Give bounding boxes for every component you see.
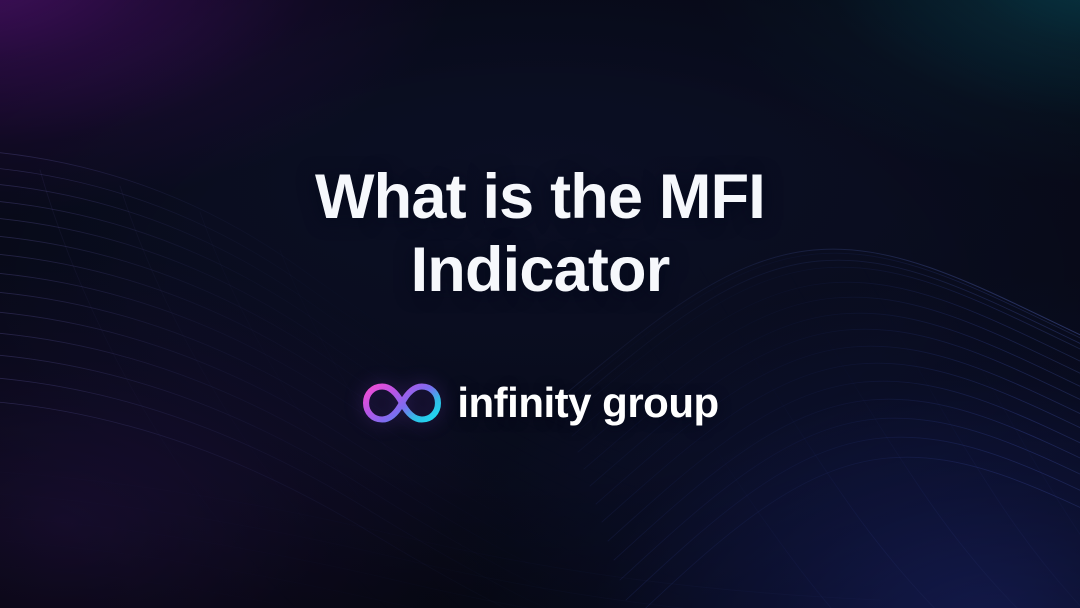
- page-title: What is the MFI Indicator: [315, 161, 765, 307]
- title-slide: What is the MFI Indicator infinity group: [0, 0, 1080, 608]
- title-line-2: Indicator: [315, 234, 765, 307]
- brand-logo-lockup: infinity group: [361, 381, 718, 425]
- infinity-icon: [361, 381, 443, 425]
- slide-content: What is the MFI Indicator infinity group: [0, 0, 1080, 608]
- brand-wordmark: infinity group: [457, 382, 718, 424]
- title-line-1: What is the MFI: [315, 161, 765, 234]
